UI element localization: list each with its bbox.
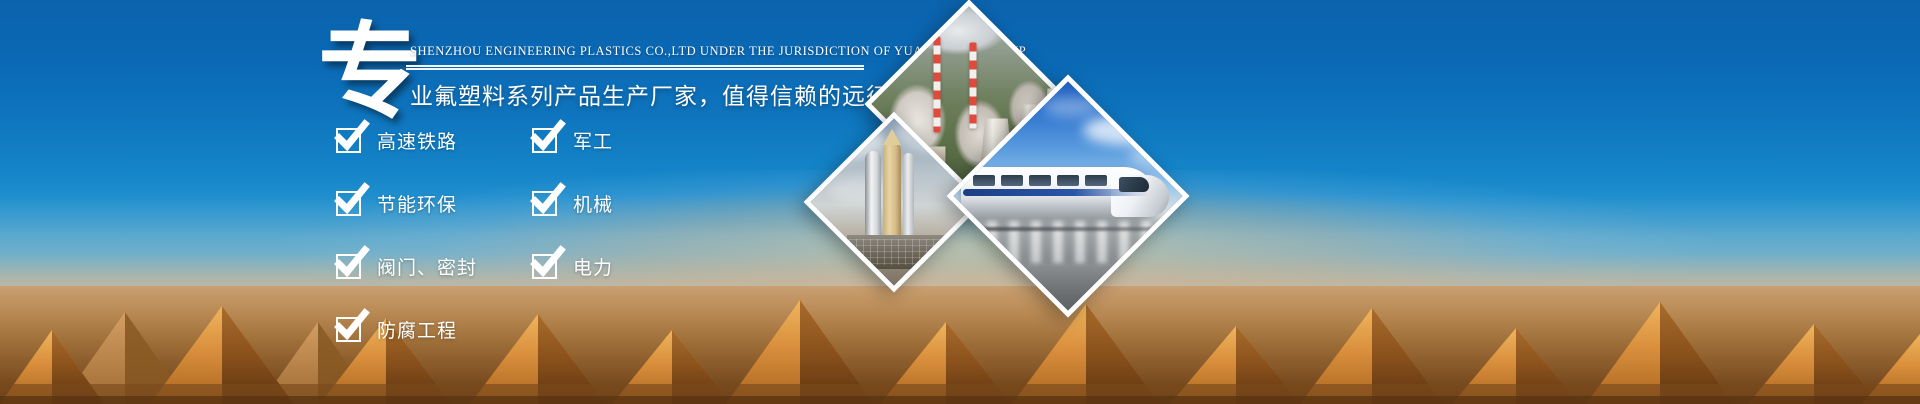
double-rule-divider xyxy=(406,65,864,70)
feature-label: 军工 xyxy=(573,127,613,154)
feature-item[interactable]: 节能环保 xyxy=(336,185,477,222)
smokestack xyxy=(970,43,977,129)
check-box-icon xyxy=(532,128,557,153)
feature-label: 高速铁路 xyxy=(377,127,457,154)
check-box-icon xyxy=(532,254,557,279)
hero-banner: 专 SHENZHOU ENGINEERING PLASTICS CO.,LTD … xyxy=(0,0,1920,404)
feature-item[interactable]: 电力 xyxy=(532,248,613,285)
check-box-icon xyxy=(336,128,361,153)
rail-line xyxy=(946,227,1189,231)
check-box-icon xyxy=(336,254,361,279)
solid-rocket-booster xyxy=(903,153,914,237)
train-cab-window xyxy=(1119,177,1149,192)
feature-item[interactable]: 防腐工程 xyxy=(336,311,477,348)
orbiter xyxy=(865,151,881,237)
feature-item[interactable]: 高速铁路 xyxy=(336,122,477,159)
feature-item[interactable]: 阀门、密封 xyxy=(336,248,477,285)
feature-label: 防腐工程 xyxy=(377,316,457,343)
smokestack xyxy=(934,37,941,133)
feature-column-two: 军工 机械 电力 xyxy=(532,122,613,311)
check-box-icon xyxy=(336,191,361,216)
launch-pad-structure xyxy=(849,239,943,265)
external-tank xyxy=(883,141,901,245)
feature-item[interactable]: 军工 xyxy=(532,122,613,159)
check-box-icon xyxy=(532,191,557,216)
feature-item[interactable]: 机械 xyxy=(532,185,613,222)
check-box-icon xyxy=(336,317,361,342)
photo-tile-group xyxy=(830,0,1250,300)
feature-label: 节能环保 xyxy=(377,190,457,217)
feature-column-one: 高速铁路 节能环保 阀门、密封 防腐工程 xyxy=(336,122,477,374)
feature-label: 机械 xyxy=(573,190,613,217)
feature-label: 电力 xyxy=(573,253,613,280)
feature-label: 阀门、密封 xyxy=(377,253,477,280)
